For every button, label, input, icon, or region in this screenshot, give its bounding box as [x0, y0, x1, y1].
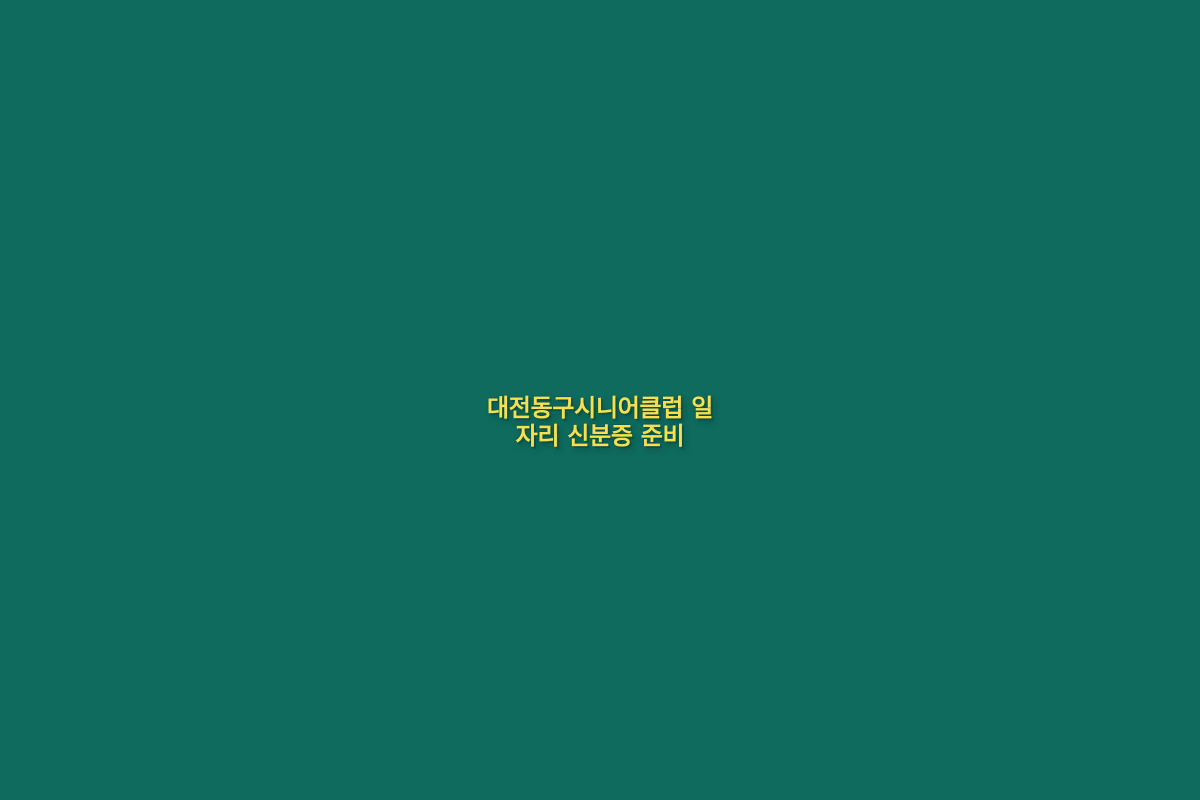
- headline-line-2: 자리 신분증 준비: [70, 422, 1130, 450]
- headline-line-1: 대전동구시니어클럽 일: [70, 394, 1130, 422]
- headline-text-block: 대전동구시니어클럽 일 자리 신분증 준비: [70, 394, 1130, 451]
- banner-canvas: 대전동구시니어클럽 일 자리 신분증 준비: [0, 0, 1200, 800]
